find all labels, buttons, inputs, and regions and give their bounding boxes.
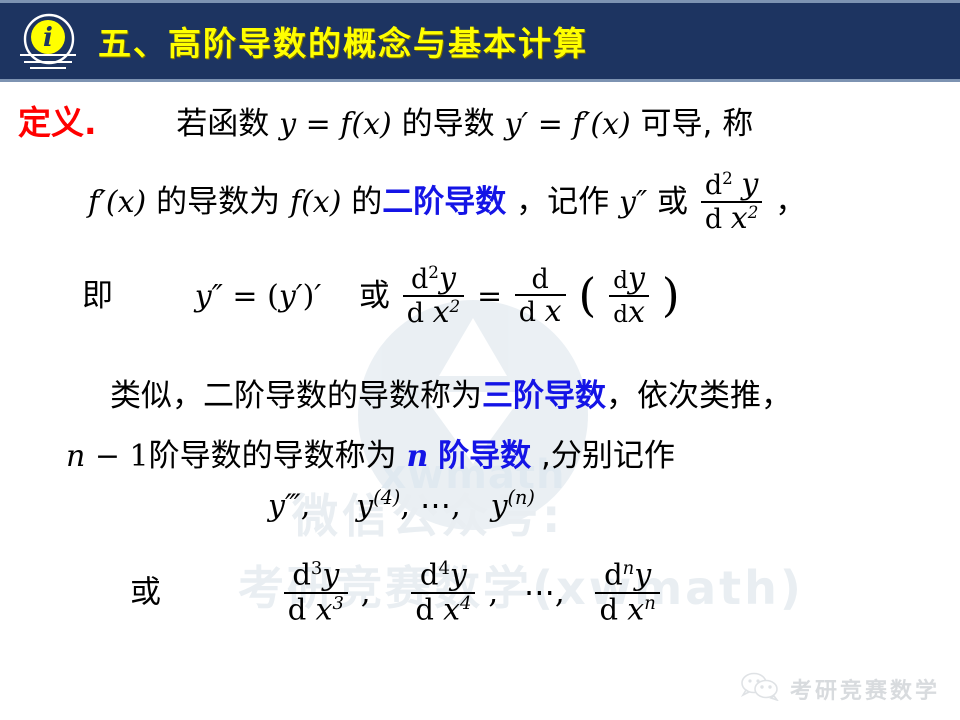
fourth-order-sup: (4) xyxy=(373,486,400,509)
f7a-den-d: d xyxy=(288,593,307,627)
line3-y: y xyxy=(195,279,212,314)
notation-fractions-line: 或 d3y d x3 , d4y d x4 , ⋯, dny d xn xyxy=(130,560,663,628)
comma-2: , xyxy=(400,487,410,523)
f7b-den-d: d xyxy=(415,593,434,627)
f7b-num-y: y xyxy=(450,558,467,593)
f1-den-x: x xyxy=(433,295,450,330)
line1-text-2: 的导数 xyxy=(402,106,495,142)
line2-text-5: ， xyxy=(775,184,806,220)
line2-text-3: ，记作 xyxy=(516,184,609,220)
line4-text-2: ，依次类推， xyxy=(606,378,792,414)
fraction-d-dx: d d x xyxy=(515,265,566,329)
definition-line-3: 即 y″ = (y′)′ 或 d2y d x2 = d d x ( dy dx … xyxy=(82,264,680,331)
nth-order-n-highlight: n xyxy=(407,439,429,474)
line1-text-1: 若函数 xyxy=(176,106,269,142)
comma-6: , xyxy=(555,575,565,611)
comma-5: , xyxy=(488,575,498,611)
definition-line-5: n − 1阶导数的导数称为 n 阶导数 ,分别记作 xyxy=(66,430,675,475)
line1-arg-x: (x) xyxy=(351,107,391,142)
ellipsis-1: ⋯ xyxy=(420,487,451,523)
line1-equals-2: = xyxy=(528,107,572,142)
f3-num-d: d xyxy=(613,268,628,294)
f1-num-d: d xyxy=(411,264,428,295)
nth-derivative-highlight: 阶导数 xyxy=(438,438,531,474)
fraction-d2y-dx2: d2 y d x2 xyxy=(701,169,763,236)
fraction-dy-dx: dy dx xyxy=(609,263,649,330)
page-title: 五、高阶导数的概念与基本计算 xyxy=(98,17,588,65)
line1-arg-x-2: (x) xyxy=(590,107,630,142)
f1-den-d: d xyxy=(407,298,424,329)
line2-arg-x-2: (x) xyxy=(301,185,341,220)
fraction-d2y-dx2-eq: d2y d x2 xyxy=(403,263,464,330)
f3-den-x: x xyxy=(628,295,645,330)
comma-3: , xyxy=(451,487,461,523)
f7a-den-x: x xyxy=(316,593,333,628)
line2-double-prime: ″ xyxy=(636,185,647,220)
frac-den-d: d xyxy=(705,204,722,235)
f2-num-d: d xyxy=(531,264,548,295)
line3-double-prime: ″ xyxy=(212,279,223,314)
line3-big-paren-close: ) xyxy=(662,268,680,322)
ellipsis-2: ⋯ xyxy=(524,575,555,611)
second-derivative-highlight: 二阶导数 xyxy=(382,184,506,220)
line3-text-2: 或 xyxy=(359,278,390,314)
line1-f: f xyxy=(340,107,351,142)
comma-4: , xyxy=(361,575,371,611)
frac-den-x: x xyxy=(731,201,748,236)
line2-prime: ′ xyxy=(99,185,106,220)
info-buoy-icon: i xyxy=(18,10,80,72)
line2-y: y xyxy=(619,185,636,220)
f7c-num-y: y xyxy=(634,558,651,593)
comma-1: , xyxy=(301,487,311,523)
line3-prime-outer: ′ xyxy=(314,279,321,314)
slide-body: 定义. 若函数 y = f(x) 的导数 y′ = f′(x) 可导, 称 f′… xyxy=(0,82,960,720)
slide-header: i 五、高阶导数的概念与基本计算 xyxy=(0,0,960,82)
line3-prime: ′ xyxy=(296,279,303,314)
notation-primes-line: y‴, y(4), ⋯, y(n) xyxy=(268,486,535,523)
line3-paren-open: ( xyxy=(267,279,279,314)
line2-text-4: 或 xyxy=(657,184,688,220)
line5-one: 1 xyxy=(130,439,149,474)
fraction-d4y-dx4: d4y d x4 xyxy=(411,559,475,627)
f1-num-order: 2 xyxy=(428,262,439,282)
line1-f-prime: f xyxy=(572,107,583,142)
f1-num-y: y xyxy=(439,261,456,296)
f7a-den-order: 3 xyxy=(332,593,343,614)
line2-f-2: f xyxy=(290,185,301,220)
f2-den-d: d xyxy=(519,297,536,328)
definition-label: 定义. xyxy=(18,103,97,142)
f3-den-d: d xyxy=(613,302,628,328)
f7c-num-d: d xyxy=(604,558,623,592)
brand-footer: 考研竞赛数学 xyxy=(740,671,940,706)
fraction-dny-dxn: dny d xn xyxy=(595,559,659,627)
f7b-den-x: x xyxy=(443,593,460,628)
line1-text-3: 可导, 称 xyxy=(641,106,754,142)
f7b-num-order: 4 xyxy=(438,558,449,579)
line2-f: f xyxy=(88,185,99,220)
line3-text-1: 即 xyxy=(82,278,113,314)
frac-num-d: d xyxy=(705,170,722,201)
line1-y: y xyxy=(279,107,296,142)
line3-equals: = xyxy=(223,279,267,314)
line3-paren-close: ) xyxy=(303,279,315,314)
y-nth: y xyxy=(491,488,508,523)
wechat-icon xyxy=(740,671,780,706)
definition-line-1: 定义. 若函数 y = f(x) 的导数 y′ = f′(x) 可导, 称 xyxy=(18,96,753,144)
fraction-d3y-dx3: d3y d x3 xyxy=(284,559,348,627)
f1-den-order: 2 xyxy=(450,296,461,316)
definition-line-2: f′(x) 的导数为 f(x) 的二阶导数 ，记作 y″ 或 d2 y d x2… xyxy=(88,170,806,237)
line5-text-2: ,分别记作 xyxy=(541,438,675,474)
f7c-num-order: n xyxy=(623,558,635,579)
line5-text-1: 阶导数的导数称为 xyxy=(149,438,397,474)
f7a-num-y: y xyxy=(322,558,339,593)
line5-minus: − xyxy=(85,439,129,474)
svg-text:i: i xyxy=(43,23,53,53)
line3-y-2: y xyxy=(279,279,296,314)
f7c-den-x: x xyxy=(627,593,644,628)
f2-den-x: x xyxy=(545,294,562,329)
line3-equals-2: = xyxy=(477,279,512,314)
y-fourth: y xyxy=(356,488,373,523)
line5-n: n xyxy=(66,439,85,474)
y-triple-prime: y xyxy=(268,488,285,523)
brand-label: 考研竞赛数学 xyxy=(790,673,940,705)
line2-arg-x: (x) xyxy=(106,185,146,220)
f7a-num-d: d xyxy=(292,558,311,592)
nth-order-sup: (n) xyxy=(508,486,535,509)
line1-y-prime: y xyxy=(504,107,521,142)
f7c-den-d: d xyxy=(599,593,618,627)
line2-text-1: 的导数为 xyxy=(156,184,280,220)
line2-text-2: 的 xyxy=(351,184,382,220)
definition-line-4: 类似，二阶导数的导数称为三阶导数，依次类推， xyxy=(110,370,792,415)
frac-den-order: 2 xyxy=(748,202,759,222)
f3-num-y: y xyxy=(628,261,645,296)
f7b-den-order: 4 xyxy=(460,593,471,614)
f7c-den-order: n xyxy=(644,593,656,614)
third-derivative-highlight: 三阶导数 xyxy=(482,378,606,414)
frac-num-y: y xyxy=(741,167,758,202)
line7-text-1: 或 xyxy=(130,575,161,611)
f7a-num-order: 3 xyxy=(311,558,322,579)
line4-text-1: 类似，二阶导数的导数称为 xyxy=(110,378,482,414)
line3-big-paren-open: ( xyxy=(578,268,596,322)
triple-prime-marks: ‴ xyxy=(285,488,301,523)
f7b-num-d: d xyxy=(420,558,439,592)
line1-equals: = xyxy=(296,107,340,142)
frac-num-order: 2 xyxy=(722,168,733,188)
